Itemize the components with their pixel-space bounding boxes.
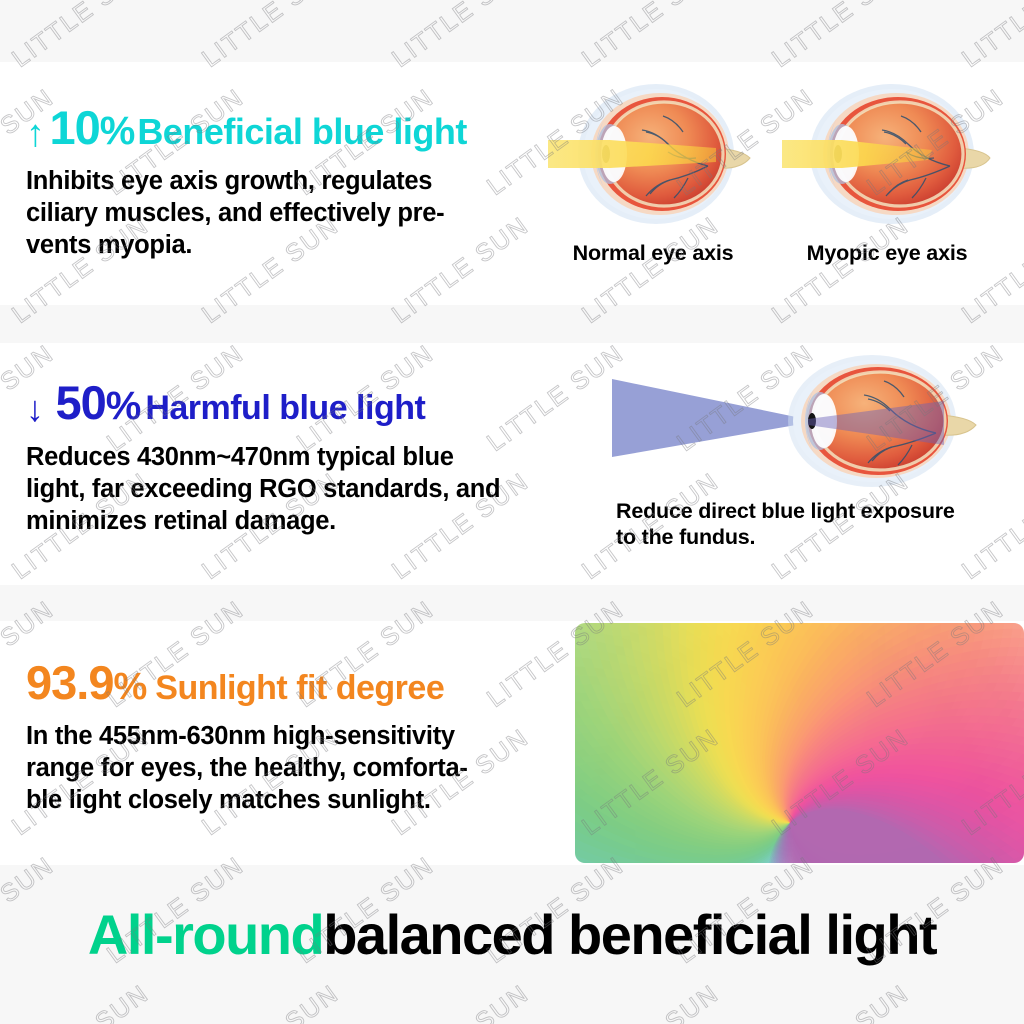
section-2-body-line-1: Reduces 430nm~470nm typical blue	[26, 441, 586, 473]
footer-highlight: All-round	[88, 907, 323, 963]
section-1-body-line-3: vents myopia.	[26, 229, 556, 261]
section-2-body-line-2: light, far exceeding RGO standards, and	[26, 473, 586, 505]
section-2-body: Reduces 430nm~470nm typical blue light, …	[26, 441, 586, 537]
section-3-body-line-1: In the 455nm-630nm high-sensitivity	[26, 720, 566, 752]
section-2-title: Harmful blue light	[140, 389, 425, 427]
section-1-body: Inhibits eye axis growth, regulates cili…	[26, 165, 556, 261]
section-1-body-line-2: ciliary muscles, and effectively pre-	[26, 197, 556, 229]
section-1-body-line-1: Inhibits eye axis growth, regulates	[26, 165, 556, 197]
infographic-page: ↑ 10%Beneficial blue light Inhibits eye …	[0, 0, 1024, 1024]
section-3-body-line-3: ble light closely matches sunlight.	[26, 784, 566, 816]
divider-band-2	[0, 585, 1024, 621]
myopic-eye-illustration	[782, 74, 992, 234]
fundus-caption-line-2: to the fundus.	[616, 524, 1016, 550]
up-arrow-icon: ↑	[26, 113, 45, 155]
section-3-title: Sunlight fit degree	[146, 669, 444, 707]
section-3-body-line-2: range for eyes, the healthy, comforta-	[26, 752, 566, 784]
section-beneficial-blue-light: ↑ 10%Beneficial blue light Inhibits eye …	[0, 62, 1024, 305]
fundus-exposure-illustration	[600, 349, 1000, 499]
section-sunlight-fit-degree: 93.9%Sunlight fit degree In the 455nm-63…	[0, 621, 1024, 865]
top-band	[0, 0, 1024, 62]
section-1-headline: ↑ 10%Beneficial blue light	[26, 104, 556, 153]
section-3-metric-value: 93.9	[26, 656, 113, 709]
footer-tagline: All-round balanced beneficial light	[0, 880, 1024, 990]
divider-band-1	[0, 305, 1024, 343]
fundus-exposure-caption: Reduce direct blue light exposure to the…	[616, 498, 1016, 550]
normal-eye-illustration	[548, 74, 758, 234]
footer-rest: balanced beneficial light	[323, 907, 936, 963]
section-2-headline: ↓ 50%Harmful blue light	[26, 379, 586, 427]
section-2-metric-unit: %	[106, 384, 141, 428]
section-3-metric-unit: %	[113, 666, 146, 708]
fundus-caption-line-1: Reduce direct blue light exposure	[616, 498, 1016, 524]
myopic-eye-caption: Myopic eye axis	[782, 240, 992, 266]
section-3-headline: 93.9%Sunlight fit degree	[26, 659, 566, 706]
section-1-title: Beneficial blue light	[134, 111, 467, 152]
normal-eye-caption: Normal eye axis	[548, 240, 758, 266]
section-1-text-column: ↑ 10%Beneficial blue light Inhibits eye …	[26, 104, 556, 261]
section-harmful-blue-light: ↓ 50%Harmful blue light Reduces 430nm~47…	[0, 343, 1024, 585]
section-2-metric-value: 50	[48, 376, 105, 429]
down-arrow-icon: ↓	[26, 388, 44, 429]
spectrum-fan-illustration	[575, 623, 1024, 863]
section-2-body-line-3: minimizes retinal damage.	[26, 505, 586, 537]
section-3-body: In the 455nm-630nm high-sensitivity rang…	[26, 720, 566, 816]
section-2-text-column: ↓ 50%Harmful blue light Reduces 430nm~47…	[26, 379, 586, 537]
section-3-text-column: 93.9%Sunlight fit degree In the 455nm-63…	[26, 659, 566, 816]
section-1-metric-value: 10	[49, 101, 99, 154]
section-1-metric-unit: %	[100, 109, 135, 153]
